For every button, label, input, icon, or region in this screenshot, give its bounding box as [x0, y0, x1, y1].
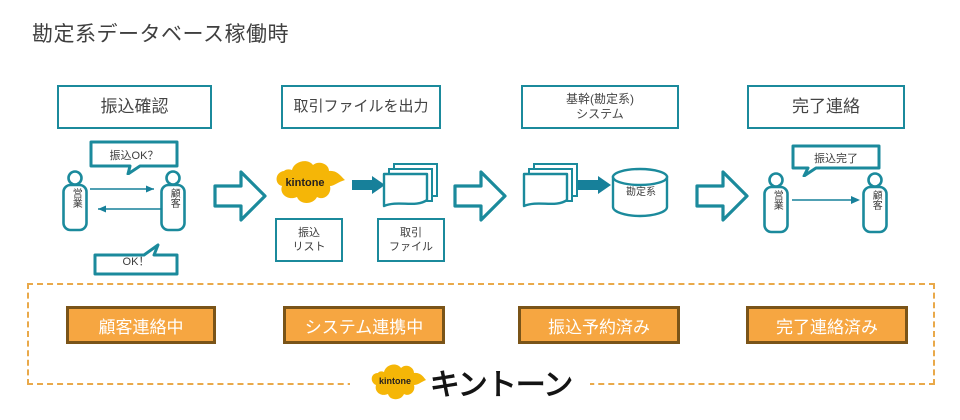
caption-box-transaction-file: 取引 ファイル — [377, 218, 445, 262]
phase-box-2: 取引ファイルを出力 — [281, 85, 441, 129]
phase-box-4-label: 完了連絡 — [792, 96, 860, 117]
person-icon-sales-2: 営業 — [763, 172, 789, 234]
status-chip-2[interactable]: システム連携中 — [283, 306, 445, 344]
chevron-arrow-icon-3 — [694, 168, 750, 224]
phase-box-4: 完了連絡 — [747, 85, 905, 129]
bubble-request-label: 振込OK？ — [88, 147, 180, 163]
database-label: 勘定系 — [610, 183, 672, 198]
status-chip-3-label: 振込予約済み — [548, 313, 650, 338]
documents-icon-2 — [380, 160, 442, 212]
bubble-complete-label: 振込完了 — [790, 150, 882, 166]
phase-box-1-label: 振込確認 — [101, 96, 169, 117]
caption-transaction-file-label: 取引 ファイル — [389, 226, 433, 255]
person-label-sales-1: 営業 — [62, 188, 88, 212]
chevron-arrow-icon-2 — [452, 168, 508, 224]
person-label-customer-1: 顧客 — [160, 188, 186, 212]
phase-box-2-label: 取引ファイルを出力 — [293, 98, 428, 117]
phase-box-1: 振込確認 — [57, 85, 212, 129]
kintone-cloud-icon: kintone — [272, 158, 346, 210]
diagram-canvas: 勘定系データベース稼働時 振込確認 取引ファイルを出力 基幹(勘定系) システム… — [0, 0, 960, 420]
import-arrow-icon — [578, 176, 612, 194]
person-label-customer-2: 顧客 — [862, 190, 888, 214]
kintone-brand-name: キントーン — [430, 360, 573, 404]
page-title: 勘定系データベース稼働時 — [32, 18, 289, 48]
person-icon-customer-2: 顧客 — [862, 172, 888, 234]
person-label-sales-2: 営業 — [763, 190, 789, 214]
documents-icon-3 — [520, 160, 582, 212]
notify-arrow-icon — [792, 194, 864, 206]
phase-box-3: 基幹(勘定系) システム — [521, 85, 679, 129]
person-icon-customer-1: 顧客 — [160, 170, 186, 232]
status-chip-4-label: 完了連絡済み — [776, 313, 878, 338]
person-icon-sales-1: 営業 — [62, 170, 88, 232]
caption-box-transfer-list: 振込 リスト — [275, 218, 343, 262]
status-chip-1-label: 顧客連絡中 — [99, 313, 184, 338]
status-chip-1[interactable]: 顧客連絡中 — [66, 306, 216, 344]
bubble-ok-label: OK！ — [92, 253, 180, 269]
exchange-arrows-icon — [90, 182, 162, 220]
kintone-cloud-text: kintone — [285, 177, 324, 189]
phase-box-3-label-line1: 基幹(勘定系) — [566, 92, 634, 107]
kintone-cloud-icon-brand: kintone — [368, 362, 426, 402]
kintone-cloud-text-brand: kintone — [379, 376, 411, 386]
status-chip-4[interactable]: 完了連絡済み — [746, 306, 908, 344]
status-chip-2-label: システム連携中 — [305, 313, 424, 338]
caption-transfer-list-label: 振込 リスト — [293, 226, 326, 255]
chevron-arrow-icon-1 — [212, 168, 268, 224]
kintone-brand-lockup: kintone キントーン — [350, 360, 590, 404]
status-chip-3[interactable]: 振込予約済み — [518, 306, 680, 344]
phase-box-3-label-line2: システム — [576, 107, 624, 122]
